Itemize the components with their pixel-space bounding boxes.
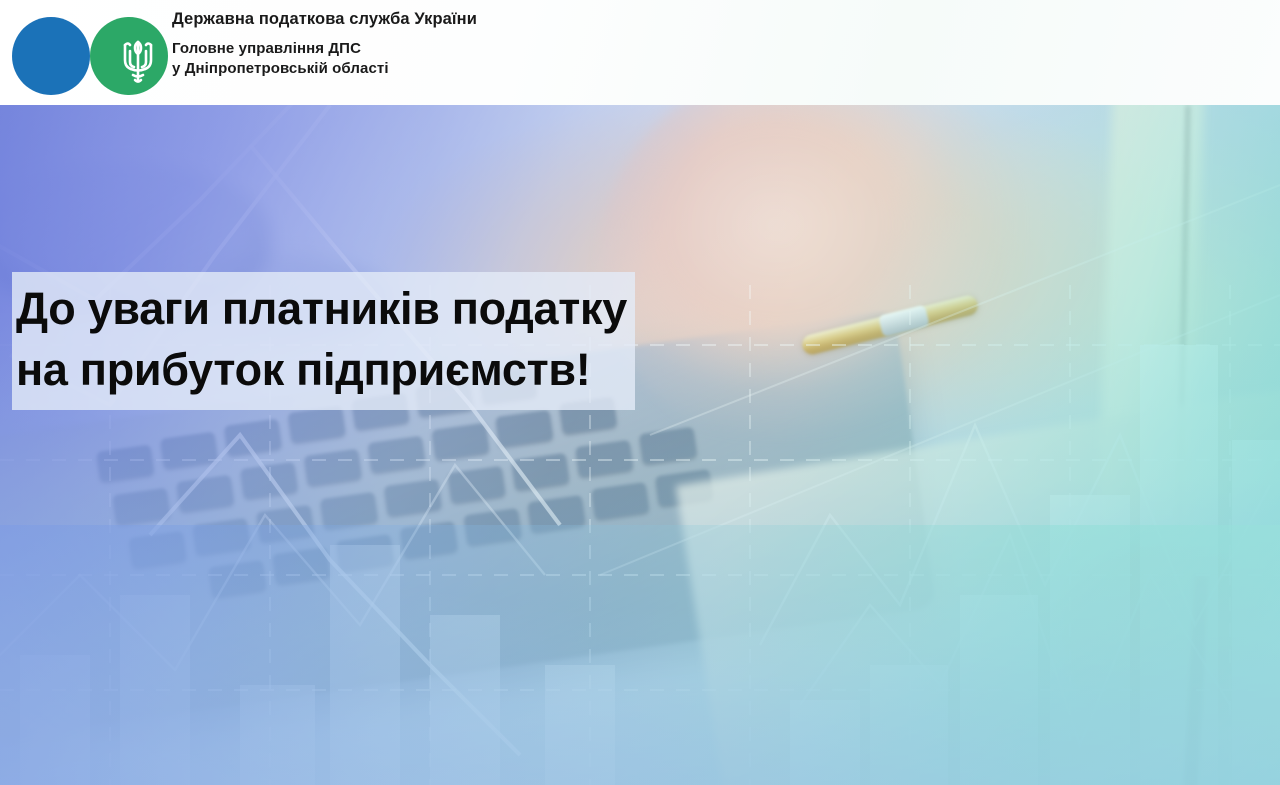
site-header: Державна податкова служба України Головн… [0,0,1280,105]
blue-circle-icon [12,17,90,95]
org-subtitle-line1: Головне управління ДПС [172,39,932,59]
hero-banner: До уваги платників податку на прибуток п… [0,105,1280,785]
org-subtitle-line2: у Дніпропетровській області [172,59,932,79]
logo[interactable] [12,10,167,94]
org-identity: Державна податкова служба України Головн… [172,10,932,79]
headline-line-2: на прибуток підприємств! [12,339,627,400]
headline-block: До уваги платників податку на прибуток п… [12,272,635,410]
ukraine-trident-icon [117,36,159,86]
vignette-overlay [0,105,1280,785]
headline-line-1: До уваги платників податку [12,278,627,339]
org-title: Державна податкова служба України [172,10,932,29]
poster-page: Державна податкова служба України Головн… [0,0,1280,785]
